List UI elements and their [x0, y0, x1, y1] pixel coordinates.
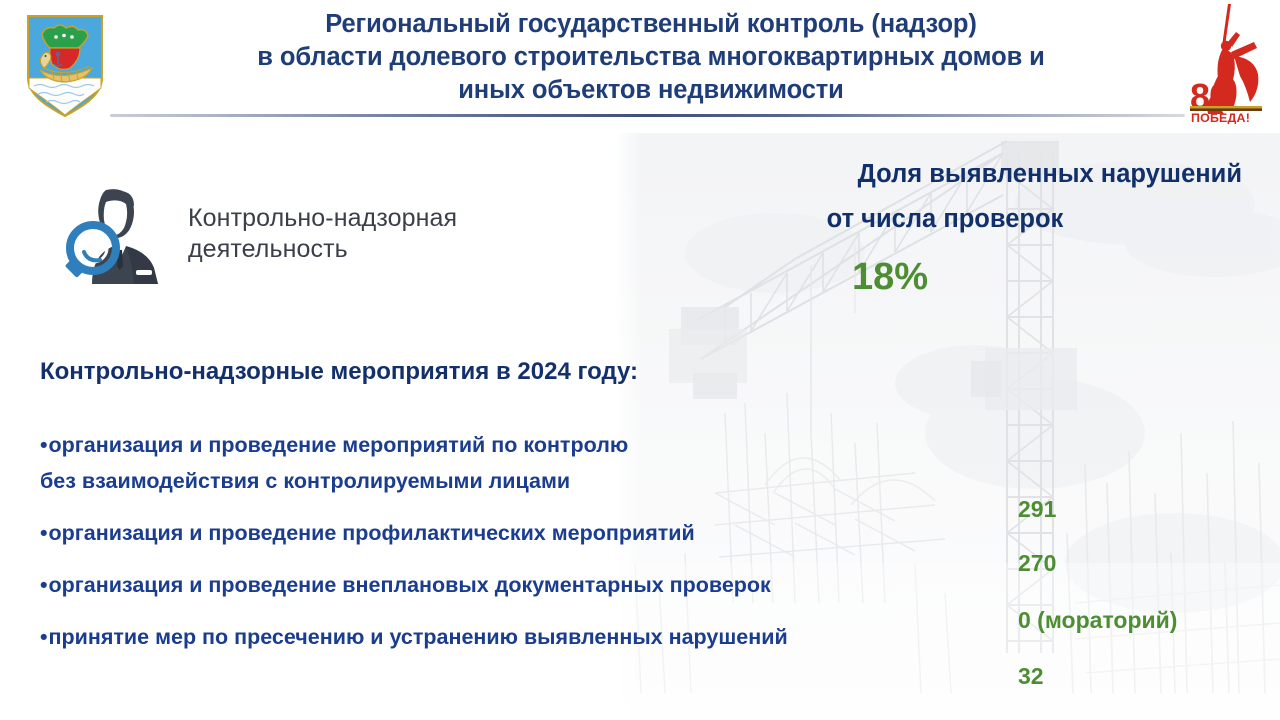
- bullet-icon: •: [40, 433, 49, 457]
- list-item-value: 291: [1018, 491, 1056, 527]
- list-item-text: •организация и проведение профилактическ…: [40, 515, 695, 551]
- victory-80-logo: 80 ПОБЕДА!: [1184, 2, 1268, 124]
- list-item-value: 0 (мораторий): [1018, 602, 1177, 638]
- stat-value: 18%: [700, 254, 1260, 300]
- slide: Региональный государственный контроль (н…: [0, 0, 1280, 720]
- bullet-icon: •: [40, 625, 49, 649]
- slide-header: Региональный государственный контроль (н…: [0, 0, 1280, 133]
- list-item: •организация и проведение мероприятий по…: [40, 427, 1270, 499]
- title-line-1: Региональный государственный контроль (н…: [118, 8, 1184, 41]
- title-line-2: в области долевого строительства многокв…: [118, 41, 1184, 74]
- stat-title-line-1: Доля выявленных нарушений: [700, 152, 1260, 197]
- list-item-label: организация и проведение мероприятий по …: [40, 433, 628, 493]
- list-item-text: •организация и проведение внеплановых до…: [40, 567, 771, 603]
- title-divider: [110, 114, 1185, 117]
- section-heading: Контрольно-надзорные мероприятия в 2024 …: [40, 355, 1270, 389]
- stat-title-line-2: от числа проверок: [700, 197, 1260, 242]
- bullet-icon: •: [40, 573, 49, 597]
- list-item-text: •принятие мер по пресечению и устранению…: [40, 619, 788, 655]
- list-item: •организация и проведение внеплановых до…: [40, 567, 1270, 603]
- main-content: Контрольно-надзорные мероприятия в 2024 …: [40, 355, 1270, 669]
- inspector-with-magnifier-icon: [62, 182, 174, 286]
- page-title: Региональный государственный контроль (н…: [118, 8, 1184, 107]
- knd-badge: Контрольно-надзорная деятельность: [62, 182, 457, 286]
- list-item-text: •организация и проведение мероприятий по…: [40, 427, 628, 499]
- kirov-coat-of-arms: [22, 12, 108, 120]
- knd-badge-label: Контрольно-надзорная деятельность: [188, 203, 457, 265]
- violations-share-stat: Доля выявленных нарушений от числа прове…: [700, 152, 1260, 300]
- list-item-value: 270: [1018, 545, 1056, 581]
- list-item-value: 32: [1018, 658, 1044, 694]
- list-item-label: принятие мер по пресечению и устранению …: [49, 625, 788, 649]
- title-line-3: иных объектов недвижимости: [118, 74, 1184, 107]
- list-item: •организация и проведение профилактическ…: [40, 515, 1270, 551]
- list-item-label: организация и проведение внеплановых док…: [49, 573, 771, 597]
- list-item-label: организация и проведение профилактически…: [49, 521, 695, 545]
- svg-text:ПОБЕДА!: ПОБЕДА!: [1191, 111, 1250, 124]
- bullet-icon: •: [40, 521, 49, 545]
